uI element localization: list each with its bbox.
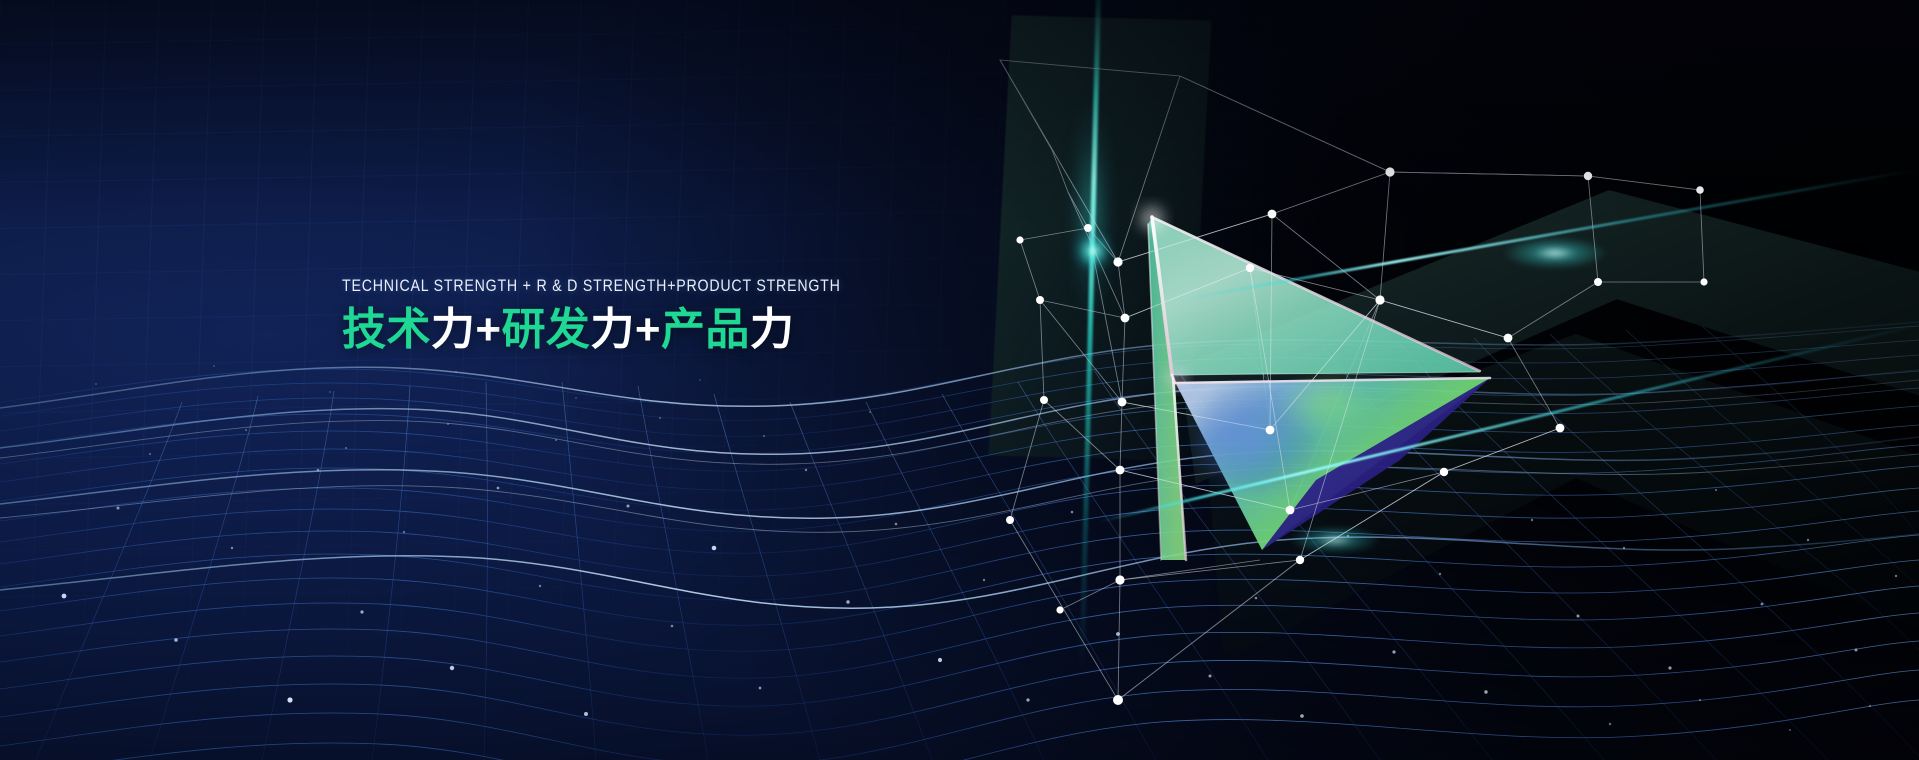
title-segment-7: 力 <box>750 305 794 354</box>
title-segment-5: + <box>635 305 661 354</box>
title-segment-3: 研发 <box>501 305 590 354</box>
title-segment-6: 产品 <box>661 305 750 354</box>
top-vignette <box>0 0 1919 760</box>
eyebrow-text: TECHNICAL STRENGTH + R & D STRENGTH+PROD… <box>342 277 875 296</box>
hero-banner: TECHNICAL STRENGTH + R & D STRENGTH+PROD… <box>0 0 1919 760</box>
title-segment-2: + <box>475 305 501 354</box>
title-segment-1: 力 <box>431 305 475 354</box>
headline-block: TECHNICAL STRENGTH + R & D STRENGTH+PROD… <box>342 277 962 354</box>
page-title: 技术力+研发力+产品力 <box>342 305 962 354</box>
title-segment-4: 力 <box>590 305 634 354</box>
title-segment-0: 技术 <box>342 305 431 354</box>
